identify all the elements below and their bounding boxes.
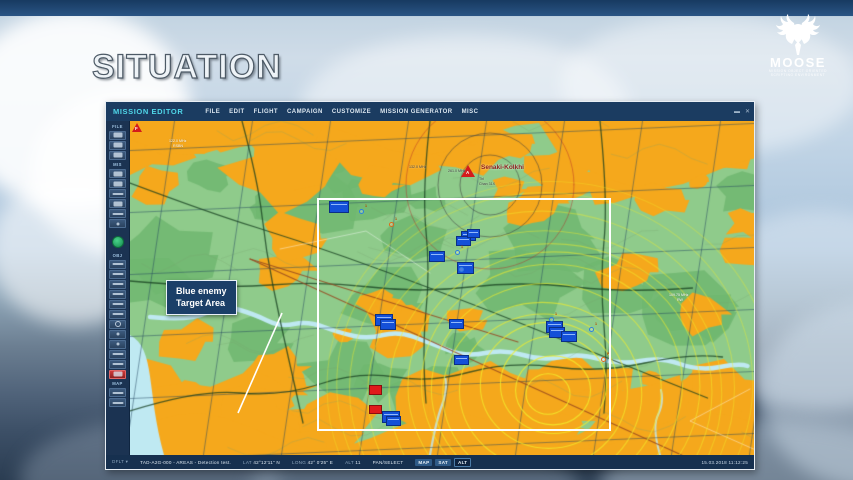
map-label: Tbl bbox=[479, 177, 484, 181]
status-longitude: LONG 42° 0'25" E bbox=[286, 460, 339, 465]
layer-toggle-map[interactable]: MAP bbox=[415, 459, 432, 466]
menu-item-edit[interactable]: EDIT bbox=[229, 109, 244, 115]
layer-toggle-alt[interactable]: ALT bbox=[454, 458, 471, 467]
vehicle-button[interactable] bbox=[109, 290, 126, 299]
payload-button[interactable] bbox=[109, 219, 126, 228]
moose-logo: MOOSE MISSION OBJECT ORIENTED SCRIPTING … bbox=[761, 14, 835, 80]
map-label: Chan 31X bbox=[479, 182, 495, 186]
window-controls[interactable]: ▬ ✕ bbox=[734, 108, 750, 115]
menu-item-file[interactable]: FILE bbox=[205, 109, 220, 115]
map-label: 261.0 MHz bbox=[448, 169, 465, 173]
template-button[interactable] bbox=[109, 350, 126, 359]
toolbar-group-label-file: FILE bbox=[106, 122, 129, 130]
cloud-decor bbox=[760, 300, 853, 480]
coalition-button[interactable] bbox=[109, 209, 126, 218]
target-area-rectangle[interactable] bbox=[317, 198, 611, 431]
map-label: Senaki-Kolkhi bbox=[481, 164, 524, 171]
status-altitude-label: ALT bbox=[345, 460, 354, 465]
menu-item-misc[interactable]: MISC bbox=[462, 109, 479, 115]
slide-top-band bbox=[0, 0, 853, 16]
callout-blue-enemy-target-area[interactable]: Blue enemy Target Area bbox=[166, 280, 237, 315]
document-icon bbox=[112, 193, 123, 195]
ship-icon bbox=[112, 283, 123, 285]
status-bar: DFLT ▾ TAD-A2G-000 - AREAS - Detection t… bbox=[106, 455, 754, 469]
magnifier-icon bbox=[112, 392, 123, 394]
map-label: 122.0 MHz bbox=[169, 139, 186, 143]
status-preset-label: DFLT bbox=[112, 459, 124, 464]
circle-zone-icon bbox=[115, 321, 121, 327]
place-unit-button[interactable] bbox=[112, 236, 124, 248]
airbase-glyph: F bbox=[135, 126, 138, 131]
status-mode[interactable]: PAN/SELECT bbox=[367, 460, 410, 465]
moose-wordmark: MOOSE bbox=[761, 57, 835, 69]
template-icon bbox=[112, 353, 123, 355]
toolbar-group-label-mis: MIS bbox=[106, 161, 129, 169]
helicopter-icon bbox=[112, 273, 123, 275]
status-preset-selector[interactable]: DFLT ▾ bbox=[106, 459, 134, 465]
new-mission-button[interactable] bbox=[109, 131, 126, 140]
menu-item-campaign[interactable]: CAMPAIGN bbox=[287, 109, 323, 115]
chevron-down-icon[interactable]: ▾ bbox=[126, 459, 129, 464]
page-title: SITUATION bbox=[92, 48, 282, 87]
map-label: 132.0 MHz bbox=[409, 165, 426, 169]
cargo-button[interactable] bbox=[109, 330, 126, 339]
status-latitude: LAT 42°12'11" N bbox=[237, 460, 286, 465]
callout-line-1: Blue enemy bbox=[176, 285, 227, 297]
window-title: MISSION EDITOR bbox=[113, 107, 183, 116]
menu-item-customize[interactable]: CUSTOMIZE bbox=[332, 109, 371, 115]
status-latitude-label: LAT bbox=[243, 460, 252, 465]
toolbar-group-label-obj: OBJ bbox=[106, 251, 129, 259]
map-label: 109.75 MHz bbox=[669, 293, 688, 297]
failures-button[interactable] bbox=[109, 199, 126, 208]
map-zoom-button[interactable] bbox=[109, 388, 126, 397]
mission-options-button[interactable] bbox=[109, 169, 126, 178]
menu-bar: MISSION EDITOR FILEEDITFLIGHTCAMPAIGNCUS… bbox=[106, 102, 754, 121]
ruler-icon bbox=[112, 402, 123, 404]
map-ruler-button[interactable] bbox=[109, 398, 126, 407]
map-label: RSBN bbox=[173, 144, 183, 148]
save-mission-button[interactable] bbox=[109, 151, 126, 160]
callout-line-2: Target Area bbox=[176, 297, 227, 309]
status-altitude: ALT 11 bbox=[339, 460, 367, 465]
delete-object-button[interactable] bbox=[109, 370, 126, 379]
folder-icon bbox=[113, 143, 122, 148]
trigger-zone-button[interactable] bbox=[109, 320, 126, 329]
moose-tagline: MISSION OBJECT ORIENTED SCRIPTING ENVIRO… bbox=[761, 69, 835, 77]
mission-editor-window: MISSION EDITOR FILEEDITFLIGHTCAMPAIGNCUS… bbox=[105, 101, 755, 470]
toolbar-separator bbox=[106, 229, 129, 233]
layer-toggle-sat[interactable]: SAT bbox=[435, 459, 451, 466]
menu-item-flight[interactable]: FLIGHT bbox=[254, 109, 278, 115]
coalition-filter-button[interactable] bbox=[109, 360, 126, 369]
crate-icon bbox=[116, 333, 119, 336]
weather-button[interactable] bbox=[109, 179, 126, 188]
page-icon bbox=[113, 133, 122, 138]
trash-icon bbox=[113, 372, 122, 377]
menu-item-mission-generator[interactable]: MISSION GENERATOR bbox=[380, 109, 452, 115]
clipboard-icon bbox=[113, 171, 122, 176]
airbase-glyph: A bbox=[466, 170, 469, 175]
toolbar-group-label-map: MAP bbox=[106, 380, 129, 388]
static-object-button[interactable] bbox=[109, 300, 126, 309]
close-icon[interactable]: ✕ bbox=[745, 108, 750, 115]
moose-antler-icon bbox=[773, 14, 823, 56]
building-icon bbox=[112, 303, 123, 305]
open-mission-button[interactable] bbox=[109, 141, 126, 150]
airplane-button[interactable] bbox=[109, 260, 126, 269]
status-mission-name: TAD-A2G-000 - AREAS - Detection test. bbox=[134, 460, 237, 465]
airplane-icon bbox=[112, 263, 123, 265]
cloud-icon bbox=[113, 181, 122, 186]
status-longitude-label: LONG bbox=[292, 460, 306, 465]
editor-body: FILEMISOBJMAP 11111PFASenaki-KolkhiTblCh… bbox=[106, 121, 754, 455]
menu-items[interactable]: FILEEDITFLIGHTCAMPAIGNCUSTOMIZEMISSION G… bbox=[205, 109, 478, 115]
helicopter-button[interactable] bbox=[109, 270, 126, 279]
left-toolbar[interactable]: FILEMISOBJMAP bbox=[106, 121, 130, 455]
flags-icon bbox=[112, 213, 123, 215]
disk-icon bbox=[113, 153, 122, 158]
status-longitude-value: 42° 0'25" E bbox=[308, 460, 334, 465]
presentation-slide: SITUATION MOOSE MISSION OBJECT ORIENTED … bbox=[0, 0, 853, 480]
ground-troop-button[interactable] bbox=[109, 310, 126, 319]
filter-icon bbox=[112, 363, 123, 365]
map-viewport[interactable]: 11111PFASenaki-KolkhiTblChan 31X132.0 MH… bbox=[130, 121, 754, 455]
panel-icon bbox=[113, 201, 122, 206]
status-datetime: 15.03.2018 11:12:25 bbox=[701, 460, 748, 465]
status-latitude-value: 42°12'11" N bbox=[253, 460, 280, 465]
status-layer-toggles[interactable]: MAPSATALT bbox=[409, 460, 480, 465]
tank-icon bbox=[112, 293, 123, 295]
minimize-icon[interactable]: ▬ bbox=[734, 109, 740, 115]
status-altitude-value: 11 bbox=[355, 460, 360, 465]
map-label: RW bbox=[677, 298, 683, 302]
fortification-button[interactable] bbox=[109, 340, 126, 349]
bunker-icon bbox=[116, 343, 119, 346]
ship-button[interactable] bbox=[109, 280, 126, 289]
wrench-icon bbox=[116, 222, 119, 225]
soldier-icon bbox=[112, 313, 123, 315]
briefing-button[interactable] bbox=[109, 189, 126, 198]
